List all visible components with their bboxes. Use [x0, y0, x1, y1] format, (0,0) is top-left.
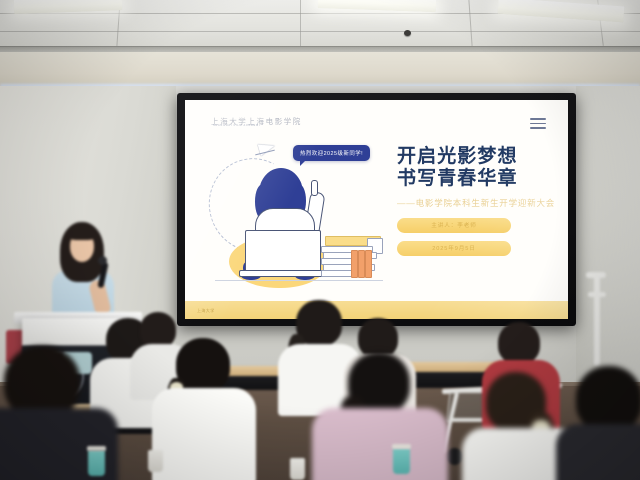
- slide-title-block: 开启光影梦想 书写青春华章 ——电影学院本科生新生开学迎新大会 主讲人：李老师 …: [397, 146, 557, 256]
- welcome-speech-bubble: 热烈欢迎2025级新同学!: [293, 145, 370, 161]
- drink-cup-lid: [87, 446, 106, 451]
- slide-title-line-1: 开启光影梦想: [397, 146, 557, 168]
- drink-cup-lid: [392, 444, 411, 449]
- hamburger-menu-icon[interactable]: [530, 118, 546, 129]
- laptop-screen: [245, 230, 321, 274]
- presenter-fringe: [68, 228, 96, 240]
- wall-soffit: [0, 52, 640, 88]
- laptop-base: [239, 270, 327, 277]
- presentation-slide: 上海大学上海电影学院 SHANGHAI FILM ACADEMY: [185, 100, 568, 319]
- classroom-photo: 上海大学上海电影学院 SHANGHAI FILM ACADEMY: [0, 0, 640, 480]
- drink-cup: [290, 458, 305, 480]
- drink-cup: [148, 450, 163, 472]
- screen-surface: 上海大学上海电影学院 SHANGHAI FILM ACADEMY: [185, 100, 568, 319]
- logo-subline: SHANGHAI FILM ACADEMY: [213, 124, 261, 127]
- right-wall: [576, 86, 640, 386]
- slide-footer-band: [185, 301, 568, 319]
- slide-subtitle: ——电影学院本科生新生开学迎新大会: [397, 197, 557, 209]
- woman-with-laptop-illustration: [203, 140, 393, 302]
- presenter-badge: 主讲人：李老师: [397, 218, 511, 233]
- pointing-finger: [311, 180, 318, 196]
- book-stack: [321, 236, 387, 284]
- wall-display[interactable]: 上海大学上海电影学院 SHANGHAI FILM ACADEMY: [177, 93, 576, 326]
- date-badge: 2025年9月5日: [397, 241, 511, 256]
- drink-cup: [393, 448, 410, 474]
- slide-footer-text: 上海大学: [197, 308, 215, 314]
- smoke-detector: [404, 30, 411, 36]
- microphone-head: [98, 256, 107, 265]
- slide-title-line-2: 书写青春华章: [397, 168, 557, 190]
- drink-cup: [88, 450, 105, 476]
